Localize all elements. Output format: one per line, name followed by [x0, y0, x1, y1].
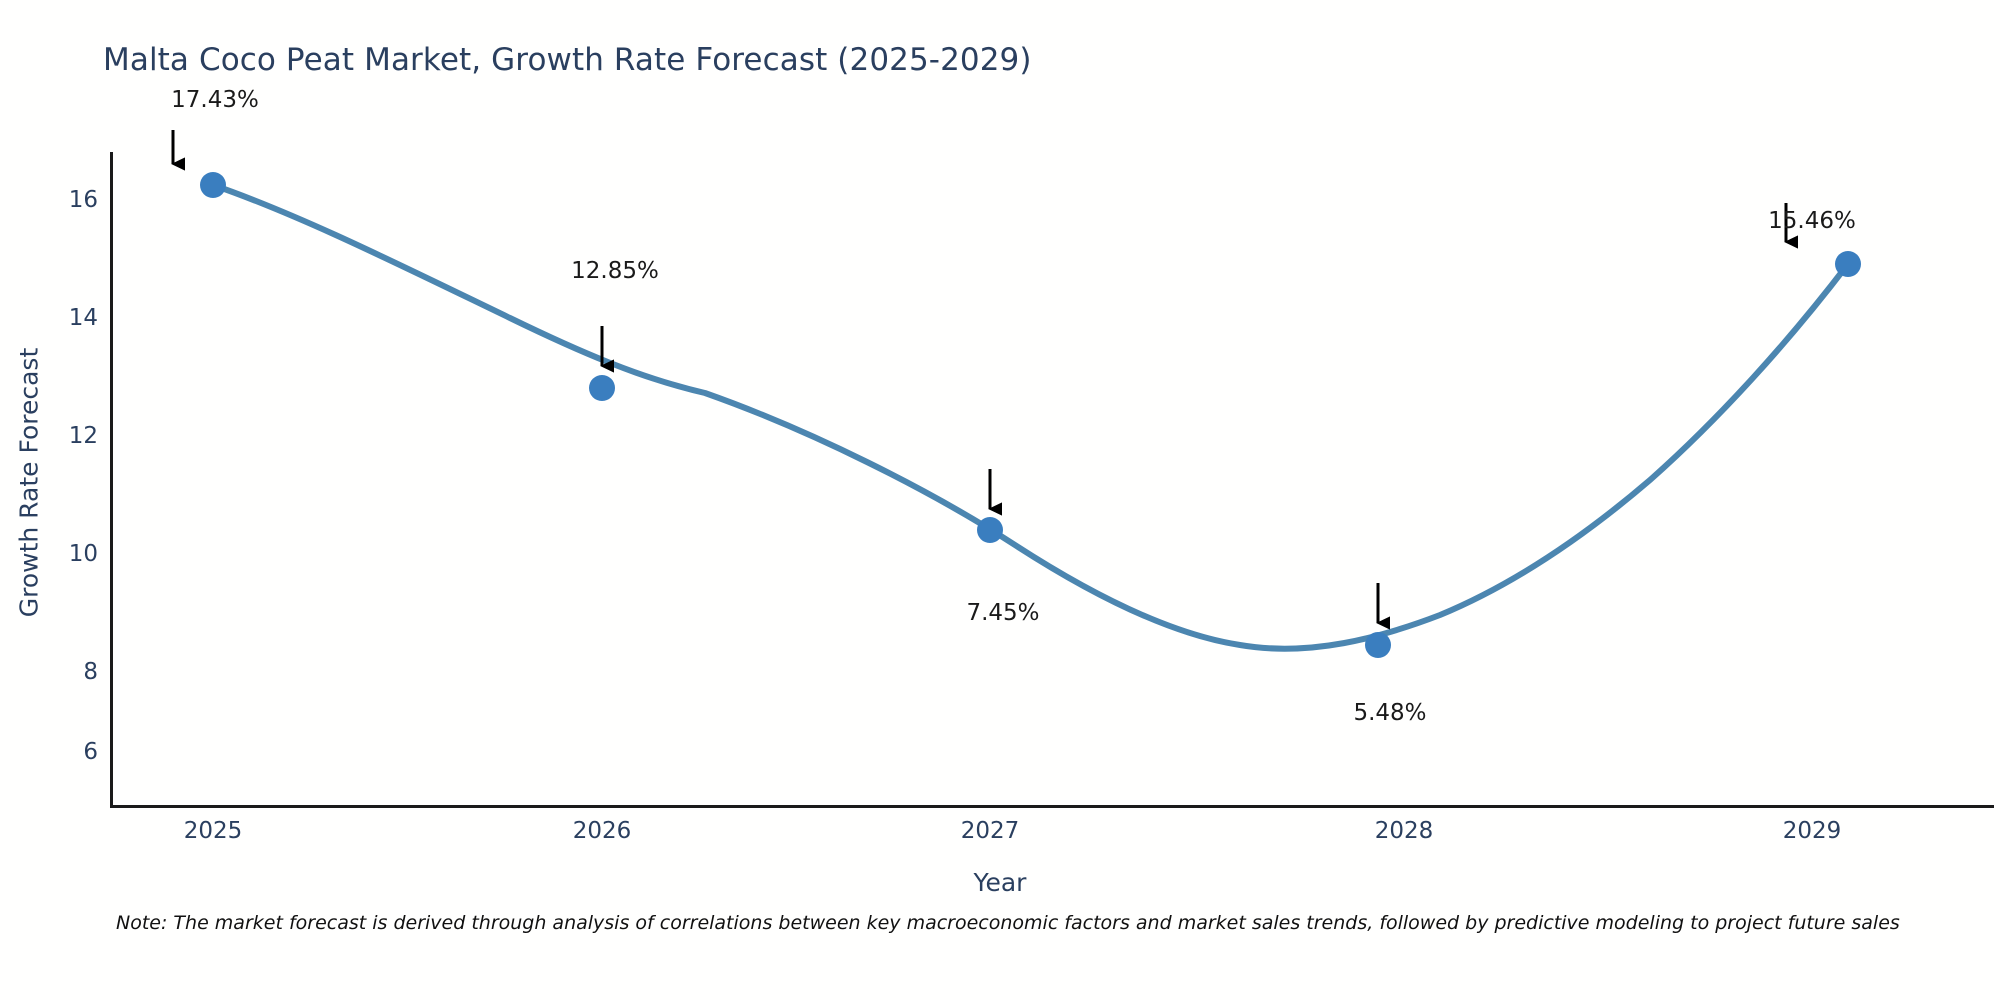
annotation-arrows: [173, 130, 1786, 623]
x-tick-label-2026: 2026: [573, 818, 632, 844]
data-point-marker[interactable]: [1365, 632, 1391, 658]
y-axis-title: Growth Rate Forecast: [15, 248, 44, 718]
data-point-markers: [200, 172, 1861, 658]
data-point-label: 7.45%: [966, 600, 1039, 626]
y-tick-label: 8: [83, 659, 98, 685]
y-tick-label: 16: [69, 187, 98, 213]
y-tick-label: 10: [69, 541, 98, 567]
data-point-marker[interactable]: [589, 375, 615, 401]
x-axis-title: Year: [0, 868, 2000, 897]
y-tick-label: 12: [69, 423, 98, 449]
chart-page: Malta Coco Peat Market, Growth Rate Fore…: [0, 0, 2000, 1000]
footer-note: Note: The market forecast is derived thr…: [116, 912, 1900, 934]
chart-title: Malta Coco Peat Market, Growth Rate Fore…: [103, 42, 1032, 78]
x-tick-label-2025: 2025: [184, 818, 243, 844]
line-chart-svg: [110, 130, 1990, 808]
plot-area: [110, 130, 1990, 808]
data-point-label: 5.48%: [1353, 700, 1426, 726]
y-tick-label: 14: [69, 305, 98, 331]
forecast-line: [213, 185, 1848, 649]
data-point-marker[interactable]: [200, 172, 226, 198]
y-tick-label: 6: [83, 739, 98, 765]
data-point-marker[interactable]: [1835, 251, 1861, 277]
data-point-label: 12.85%: [571, 258, 659, 284]
data-point-label: 15.46%: [1768, 208, 1856, 234]
x-tick-label-2028: 2028: [1375, 818, 1434, 844]
data-point-marker[interactable]: [977, 517, 1003, 543]
x-tick-label-2029: 2029: [1783, 818, 1842, 844]
data-point-label: 17.43%: [171, 87, 259, 113]
x-tick-label-2027: 2027: [961, 818, 1020, 844]
